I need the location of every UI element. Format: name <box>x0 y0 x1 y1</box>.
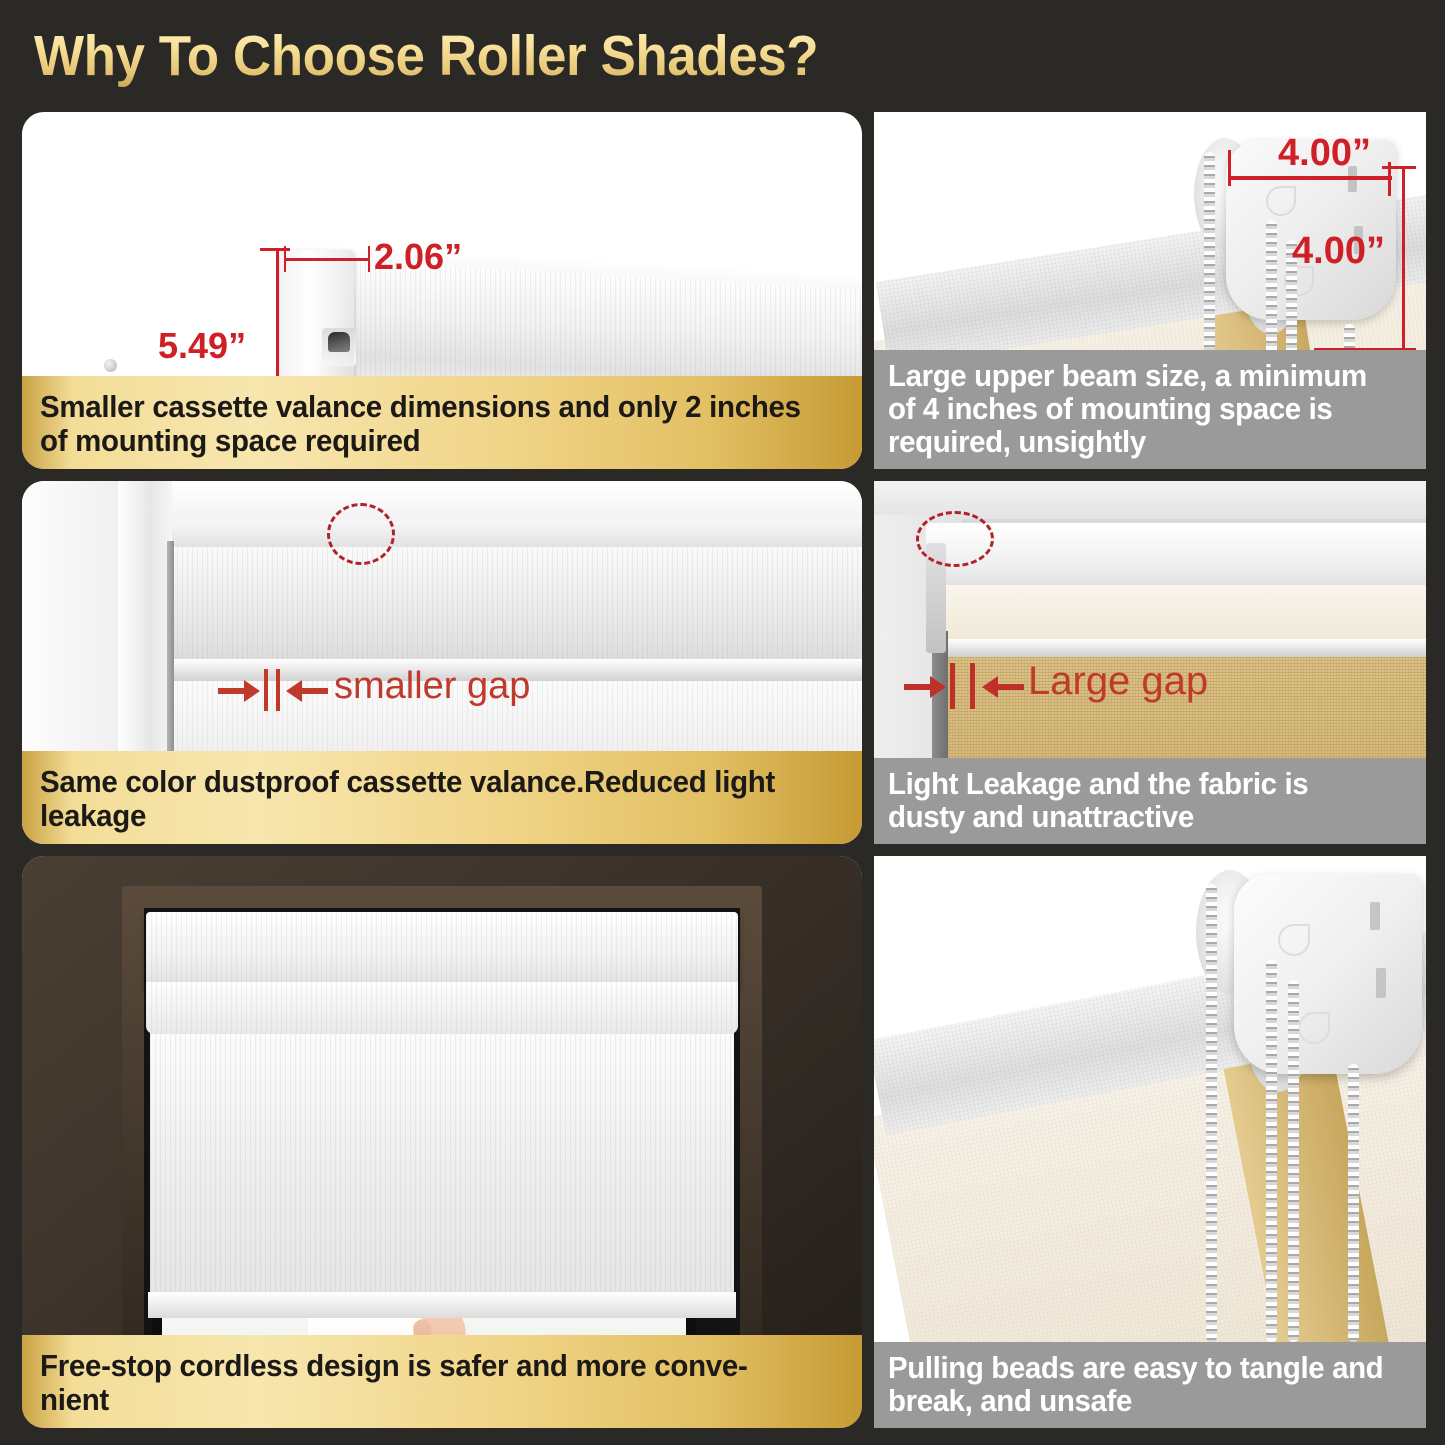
panel-2-caption: Large upper beam size, a minimum of 4 in… <box>874 350 1426 469</box>
bracket-slot-3 <box>1370 902 1380 930</box>
panel-light-leakage[interactable]: Large gap Light Leakage and the fabric i… <box>874 481 1426 844</box>
dim-line-width <box>284 258 370 261</box>
dim-line-height-2 <box>1402 166 1405 352</box>
bracket-emboss-4 <box>1298 1012 1330 1044</box>
panel-6-caption-text: Pulling beads are easy to tangle and bre… <box>888 1352 1388 1418</box>
dimension-width-label: 2.06” <box>374 236 462 278</box>
bracket-emboss-1 <box>1266 186 1296 216</box>
dim-line-width-2 <box>1228 176 1392 180</box>
dimension-height-label: 5.49” <box>158 325 246 367</box>
panel-5-caption: Free-stop cordless design is safer and m… <box>22 1335 862 1428</box>
highlight-circle-icon <box>327 503 395 565</box>
gap-tick-a <box>264 669 268 711</box>
bead-chain-5 <box>1206 884 1217 1342</box>
dimension-width-label-2: 4.00” <box>1278 132 1371 175</box>
gap-label-large: Large gap <box>1028 659 1208 704</box>
bracket-slot-4 <box>1376 968 1386 998</box>
gap-arrow-right-icon <box>284 677 328 705</box>
right-column: 4.00” 4.00” Large upper beam size, a min… <box>874 112 1426 1428</box>
page-title-text: Why To Choose Roller Shades? <box>34 22 964 90</box>
panel-smaller-cassette[interactable]: 2.06” 5.49” Smaller cassette valance dim… <box>22 112 862 469</box>
panel-1-caption-text: Smaller cassette valance dimensions and … <box>40 390 804 457</box>
infographic-page: Why To Choose Roller Shades? <box>0 0 1445 1445</box>
panel-4-caption: Light Leakage and the fabric is dusty an… <box>874 758 1426 844</box>
left-column: 2.06” 5.49” Smaller cassette valance dim… <box>22 112 862 1428</box>
dimension-height-label-2: 4.00” <box>1292 230 1385 273</box>
panel-dustproof-cassette[interactable]: smaller gap Same color dustproof cassett… <box>22 481 862 844</box>
gap-tick-a-2 <box>950 663 955 709</box>
bead-chain-6 <box>1266 960 1277 1342</box>
beam-lower-face <box>936 585 1426 643</box>
window-head-molding <box>172 521 862 547</box>
panel-4-caption-text: Light Leakage and the fabric is dusty an… <box>888 768 1388 834</box>
gap-label-smaller: smaller gap <box>334 665 530 708</box>
highlight-circle-icon-2 <box>916 511 994 567</box>
gap-tick-b-2 <box>970 663 975 709</box>
panel-cordless-design[interactable]: Free-stop cordless design is safer and m… <box>22 856 862 1428</box>
dim-tick-top-2 <box>1382 166 1416 169</box>
gap-arrow-left-icon-2 <box>904 673 948 701</box>
panel-pulling-beads[interactable]: Pulling beads are easy to tangle and bre… <box>874 856 1426 1428</box>
shade-bottom-rail <box>148 1292 736 1318</box>
panel-5-caption-text: Free-stop cordless design is safer and m… <box>40 1349 804 1416</box>
panel-3-caption-text: Same color dustproof cassette valance.Re… <box>40 765 804 832</box>
panel-3-caption: Same color dustproof cassette valance.Re… <box>22 751 862 844</box>
gap-arrow-left-icon <box>218 677 262 705</box>
mounting-bracket-2 <box>1234 874 1422 1074</box>
panel-1-caption: Smaller cassette valance dimensions and … <box>22 376 862 469</box>
panel-6-caption: Pulling beads are easy to tangle and bre… <box>874 1342 1426 1428</box>
shade-panel <box>150 1032 734 1306</box>
cassette-valance <box>146 912 738 990</box>
gap-arrow-right-icon-2 <box>980 673 1024 701</box>
dim-tick-left-2 <box>1228 150 1231 186</box>
bead-chain-7 <box>1288 980 1299 1342</box>
cassette-valance-lower <box>146 982 738 1034</box>
beam-rail <box>936 639 1426 657</box>
screw-icon <box>104 359 117 372</box>
panel-grid: 2.06” 5.49” Smaller cassette valance dim… <box>22 112 1426 1428</box>
panel-large-upper-beam[interactable]: 4.00” 4.00” Large upper beam size, a min… <box>874 112 1426 469</box>
bracket-slot-icon <box>322 328 356 366</box>
dim-tick-top <box>260 248 290 251</box>
cassette-valance-face <box>172 547 862 659</box>
page-title: Why To Choose Roller Shades? <box>34 22 1034 90</box>
gap-tick-b <box>276 669 280 711</box>
bead-chain-8 <box>1348 1064 1359 1342</box>
panel-2-caption-text: Large upper beam size, a minimum of 4 in… <box>888 360 1388 459</box>
bracket-emboss-3 <box>1278 924 1310 956</box>
